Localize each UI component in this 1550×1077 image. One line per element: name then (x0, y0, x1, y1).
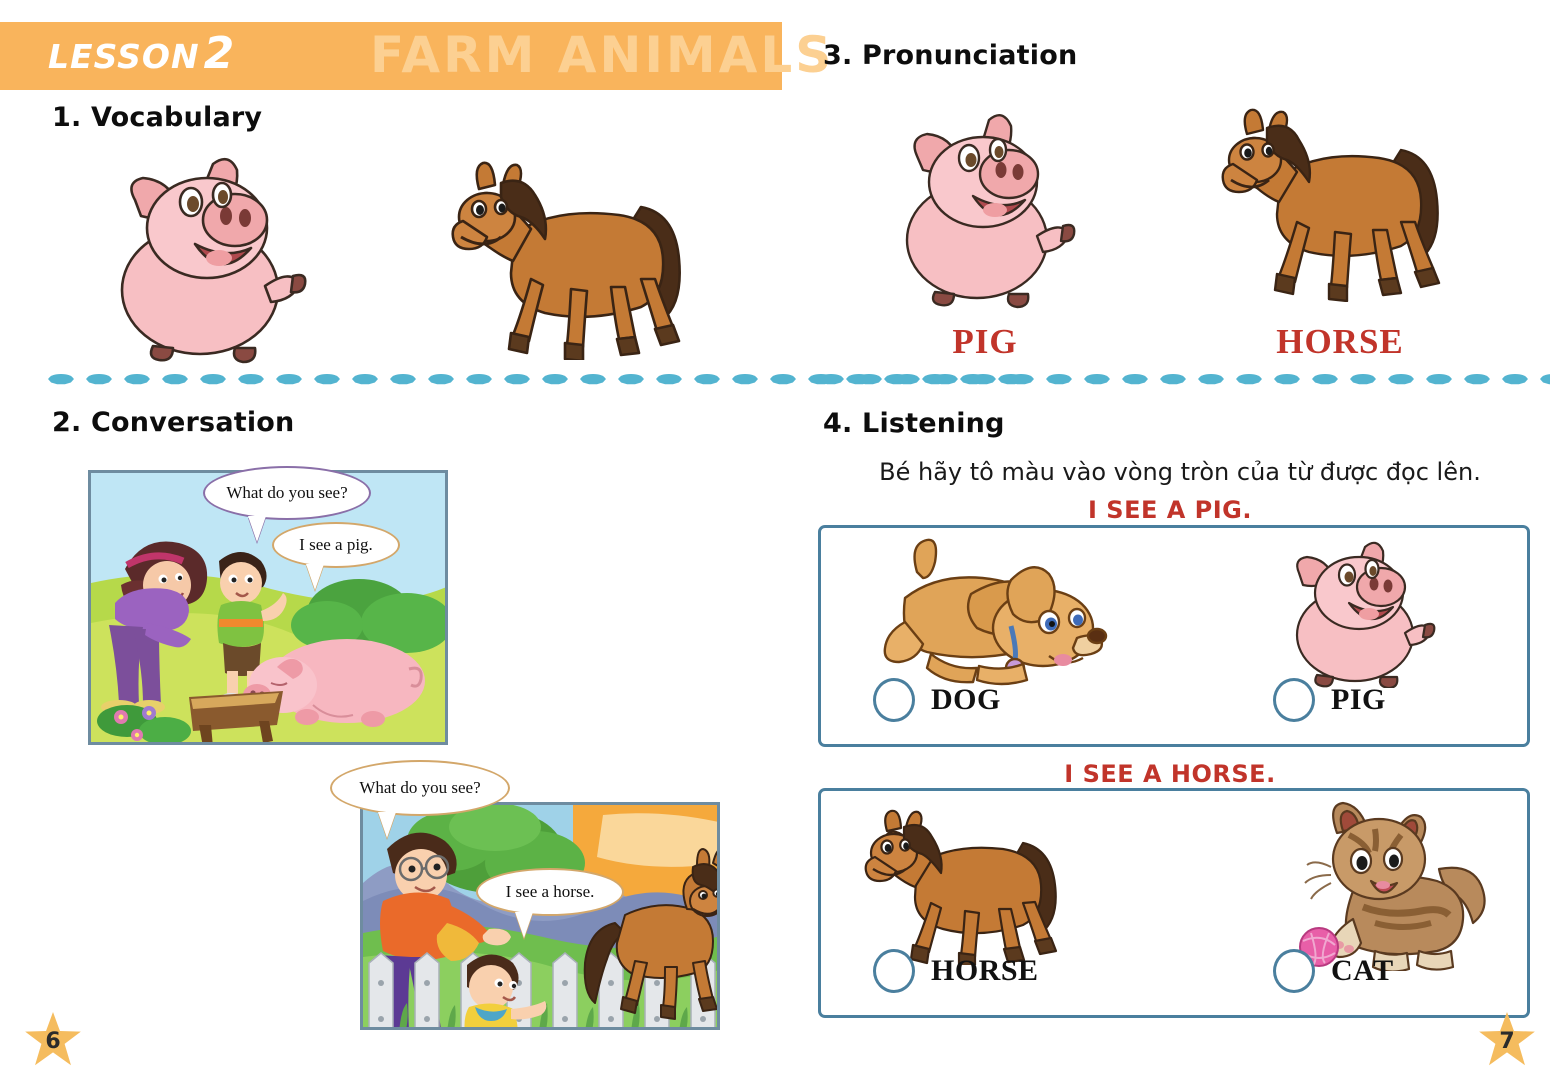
worksheet-page: LESSON 2 FARM ANIMALS 1. Vocabulary (0, 0, 1550, 1077)
vocabulary-pig-illustration (95, 140, 325, 370)
listening-pig-illustration (1271, 533, 1461, 688)
listening-cat-illustration (1291, 799, 1496, 971)
pronunciation-horse-illustration (1215, 102, 1465, 302)
listening-dog-illustration (871, 536, 1111, 686)
unit-title: FARM ANIMALS (370, 26, 834, 84)
listening-box-2: HORSE CAT (818, 788, 1530, 1018)
bubble-tail (306, 564, 324, 590)
lesson-word: LESSON (48, 37, 200, 76)
listening-option-pig-label: PIG (1331, 683, 1386, 717)
pronunciation-word-horse: HORSE (1210, 322, 1470, 362)
listening-option-horse-circle[interactable] (873, 949, 915, 993)
vocabulary-horse-illustration (445, 155, 710, 360)
page-number-left: 6 (24, 1012, 82, 1068)
listening-option-horse-label: HORSE (931, 954, 1039, 988)
heading-pronunciation: 3. Pronunciation (823, 40, 1077, 71)
divider-right-top (818, 371, 1530, 387)
listening-option-cat-label: CAT (1331, 954, 1394, 988)
listening-option-dog-label: DOG (931, 683, 1001, 717)
listening-option-pig[interactable]: PIG (1273, 678, 1386, 722)
heading-listening: 4. Listening (823, 408, 1005, 439)
conversation-panel-2 (360, 802, 720, 1030)
listening-option-dog-circle[interactable] (873, 678, 915, 722)
lesson-banner: LESSON 2 FARM ANIMALS (0, 22, 782, 90)
heading-conversation: 2. Conversation (52, 407, 294, 438)
listening-instruction: Bé hãy tô màu vào vòng tròn của từ được … (850, 458, 1510, 486)
bubble-tail (248, 516, 266, 542)
lesson-number: 2 (204, 36, 236, 71)
listening-cue-1: I SEE A PIG. (820, 496, 1520, 524)
pronunciation-pig-illustration (885, 100, 1085, 315)
listening-option-horse[interactable]: HORSE (873, 949, 1039, 993)
divider-left-top (48, 371, 748, 387)
speech-text-answer-2: I see a horse. (506, 882, 595, 902)
listening-options-row-1: DOG PIG (821, 678, 1527, 730)
speech-text-question-2: What do you see? (359, 778, 480, 798)
speech-bubble-answer-2: I see a horse. (476, 868, 624, 916)
page-number-right-value: 7 (1499, 1029, 1514, 1054)
speech-bubble-question-1: What do you see? (203, 466, 371, 520)
listening-box-1: DOG PIG (818, 525, 1530, 747)
bubble-tail (515, 912, 533, 938)
speech-text-question-1: What do you see? (226, 483, 347, 503)
pronunciation-word-pig: PIG (855, 322, 1115, 362)
listening-cue-2: I SEE A HORSE. (820, 760, 1520, 788)
right-page: 3. Pronunciation (790, 0, 1550, 1077)
speech-text-answer-1: I see a pig. (299, 535, 373, 555)
listening-option-cat[interactable]: CAT (1273, 949, 1394, 993)
page-number-left-value: 6 (45, 1029, 60, 1054)
listening-option-dog[interactable]: DOG (873, 678, 1001, 722)
speech-bubble-answer-1: I see a pig. (272, 522, 400, 568)
bubble-tail (378, 812, 396, 838)
listening-option-pig-circle[interactable] (1273, 678, 1315, 722)
listening-options-row-2: HORSE CAT (821, 949, 1527, 1001)
heading-vocabulary: 1. Vocabulary (52, 102, 262, 133)
page-number-right: 7 (1478, 1012, 1536, 1068)
lesson-label: LESSON 2 (48, 36, 235, 76)
left-page: LESSON 2 FARM ANIMALS 1. Vocabulary (0, 0, 790, 1077)
speech-bubble-question-2: What do you see? (330, 760, 510, 816)
listening-horse-illustration (859, 805, 1079, 965)
listening-option-cat-circle[interactable] (1273, 949, 1315, 993)
